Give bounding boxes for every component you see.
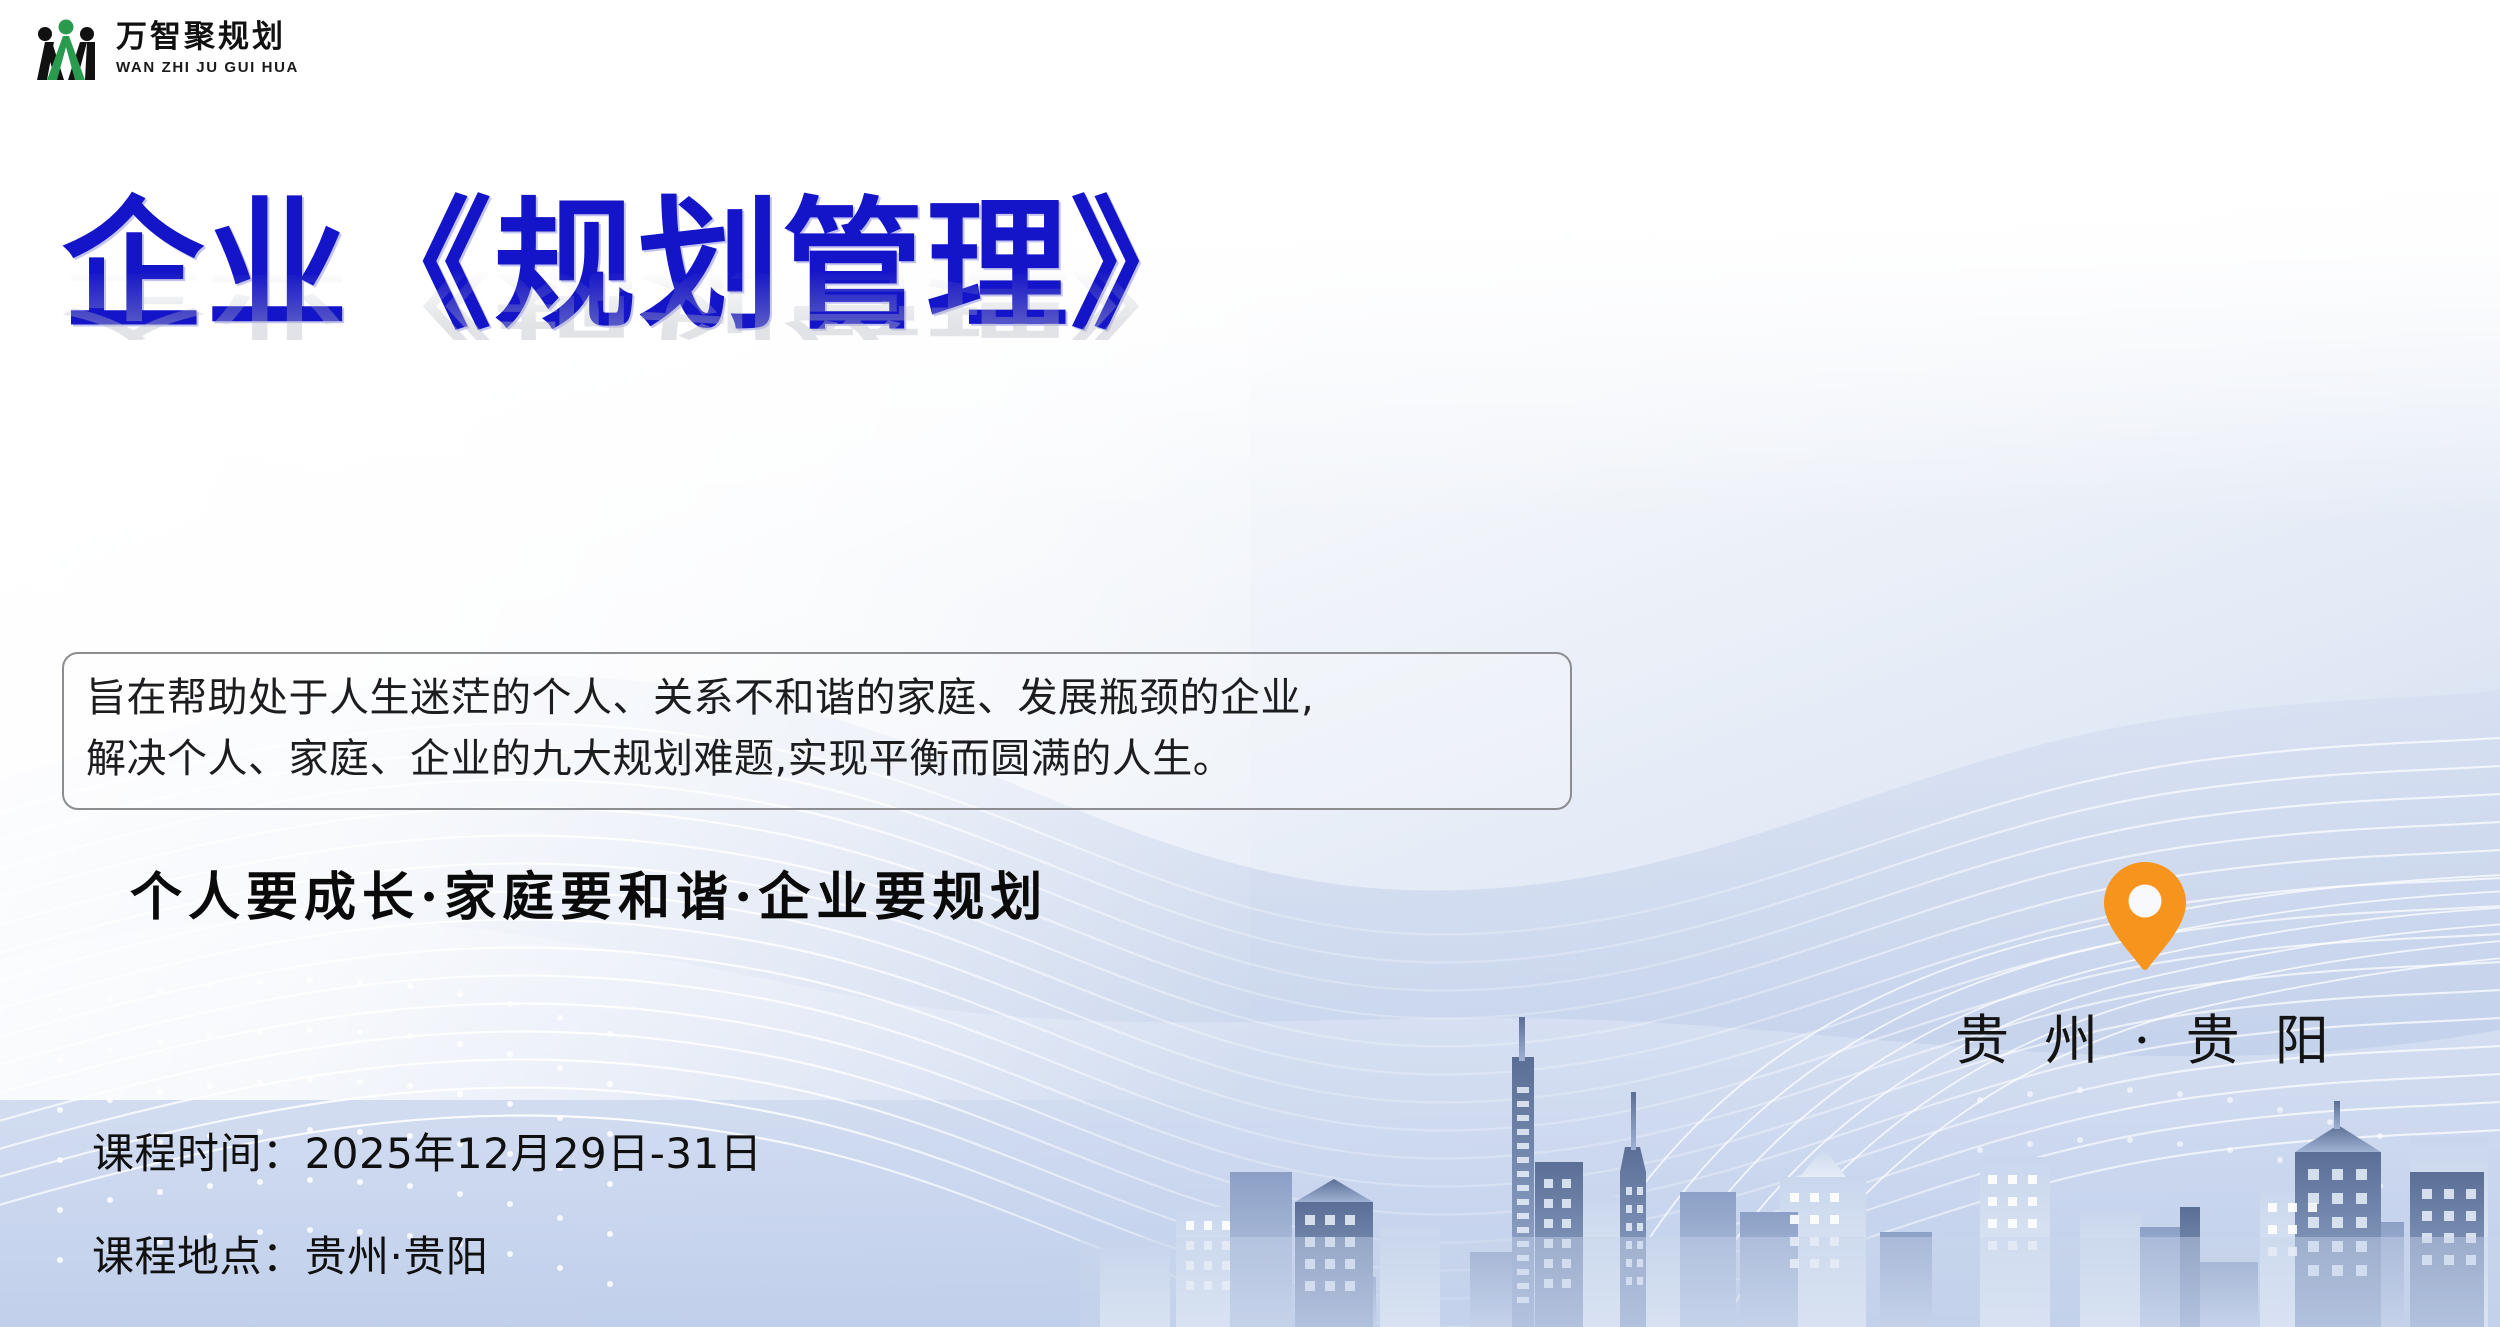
- promo-banner: 万智聚规划 WAN ZHI JU GUI HUA 企业《规划管理》 企业《规划管…: [0, 0, 2500, 1327]
- left-white-glow: [0, 0, 1250, 1100]
- description-line-1: 旨在帮助处于人生迷茫的个人、关系不和谐的家庭、发展瓶颈的企业,: [86, 668, 1548, 729]
- brand-name-cn: 万智聚规划: [116, 22, 299, 53]
- page-title-reflection: 企业《规划管理》: [62, 266, 1662, 340]
- course-time: 课程时间：2025年12月29日-31日: [92, 1120, 762, 1181]
- three-people-logo-icon: [30, 14, 102, 82]
- brand-wordmark: 万智聚规划 WAN ZHI JU GUI HUA: [116, 22, 299, 75]
- description-box: 旨在帮助处于人生迷茫的个人、关系不和谐的家庭、发展瓶颈的企业, 解决个人、家庭、…: [62, 652, 1572, 810]
- location-badge: 贵 州 · 贵 阳: [1955, 860, 2335, 1075]
- slogan-text: 个人要成长·家庭要和谐·企业要规划: [130, 855, 1048, 930]
- map-pin-icon: [2102, 860, 2188, 972]
- description-line-2: 解决个人、家庭、企业的九大规划难题,实现平衡而圆满的人生。: [86, 729, 1548, 790]
- course-info-block: 课程时间：2025年12月29日-31日 课程地点：贵州·贵阳: [92, 1120, 762, 1284]
- brand-logo: 万智聚规划 WAN ZHI JU GUI HUA: [30, 14, 299, 82]
- location-label: 贵 州 · 贵 阳: [1955, 996, 2335, 1075]
- brand-name-pinyin: WAN ZHI JU GUI HUA: [116, 60, 299, 75]
- course-place: 课程地点：贵州·贵阳: [92, 1223, 762, 1284]
- hero-title-block: 企业《规划管理》 企业《规划管理》: [62, 196, 1662, 482]
